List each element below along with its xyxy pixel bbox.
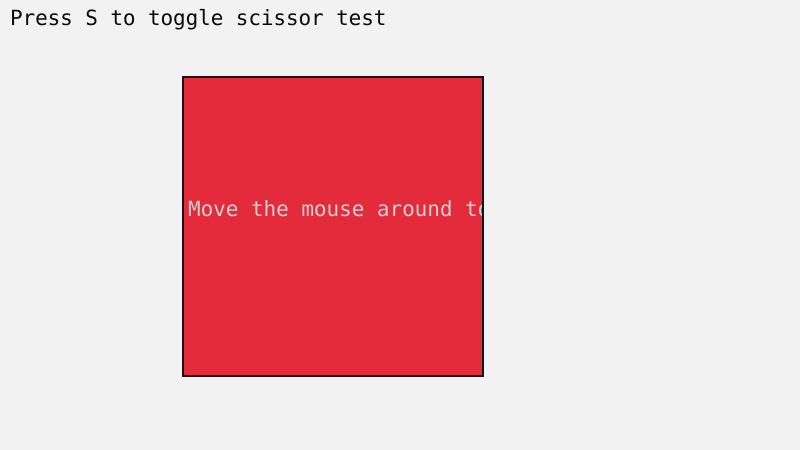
instruction-text: Press S to toggle scissor test [10,6,386,30]
app-canvas: Press S to toggle scissor test Move the … [0,0,800,450]
scissor-clipped-text: Move the mouse around to r [188,198,484,220]
scissor-rectangle[interactable]: Move the mouse around to r [182,76,484,377]
